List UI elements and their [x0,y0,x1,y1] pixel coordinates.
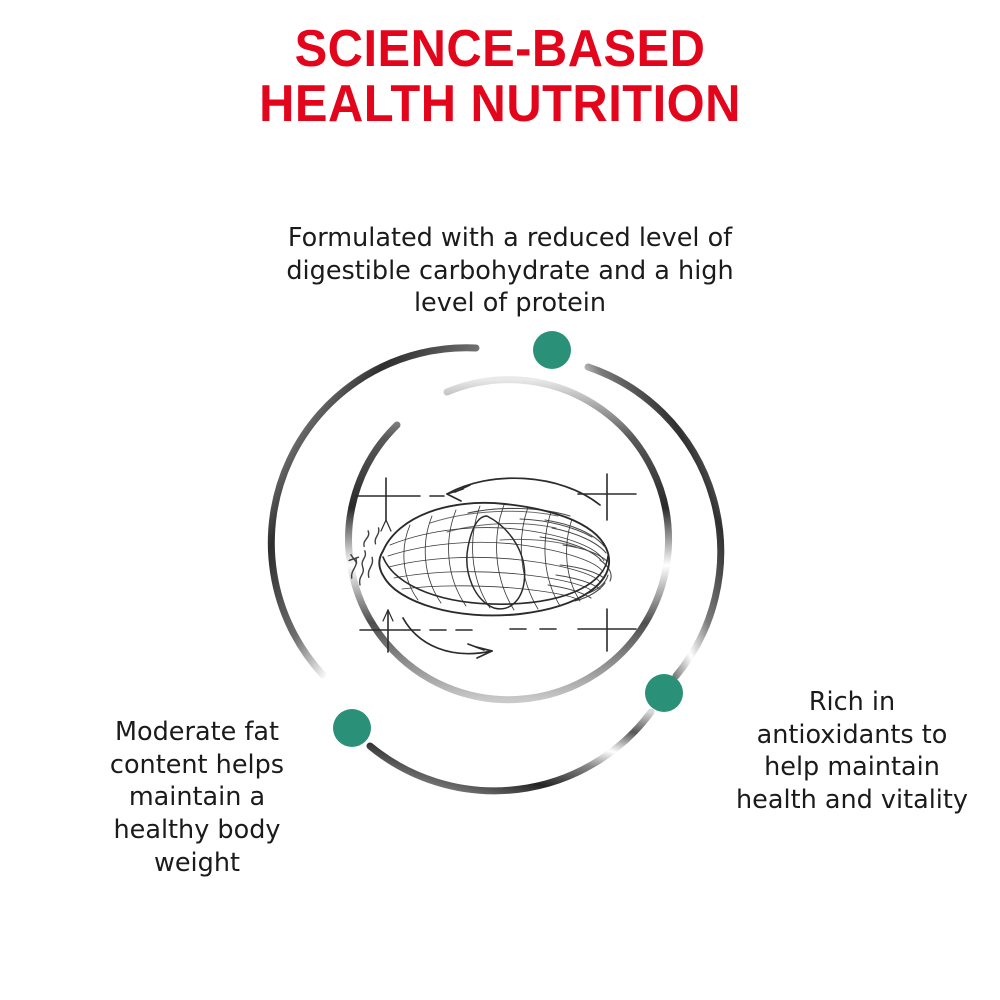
rotation-arrow-bottom [403,618,492,658]
node-top[interactable] [533,331,571,369]
rotation-arrow-top [447,478,600,505]
kibble-highlights [430,511,576,547]
caption-right: Rich in antioxidants to help maintain he… [716,686,988,817]
outer-ring-arc-bottom [370,712,651,791]
caption-left: Moderate fat content helps maintain a he… [82,716,312,879]
node-right[interactable] [645,674,683,712]
node-group [333,331,683,747]
node-left[interactable] [333,709,371,747]
kibble-seam [467,516,525,609]
kibble-mesh-longitudinal [388,528,604,600]
poster-root: SCIENCE-BASED HEALTH NUTRITION [0,0,1000,1000]
caption-top: Formulated with a reduced level of diges… [255,222,765,320]
kibble-technical-sketch [343,474,636,658]
kibble-shading [468,508,611,601]
